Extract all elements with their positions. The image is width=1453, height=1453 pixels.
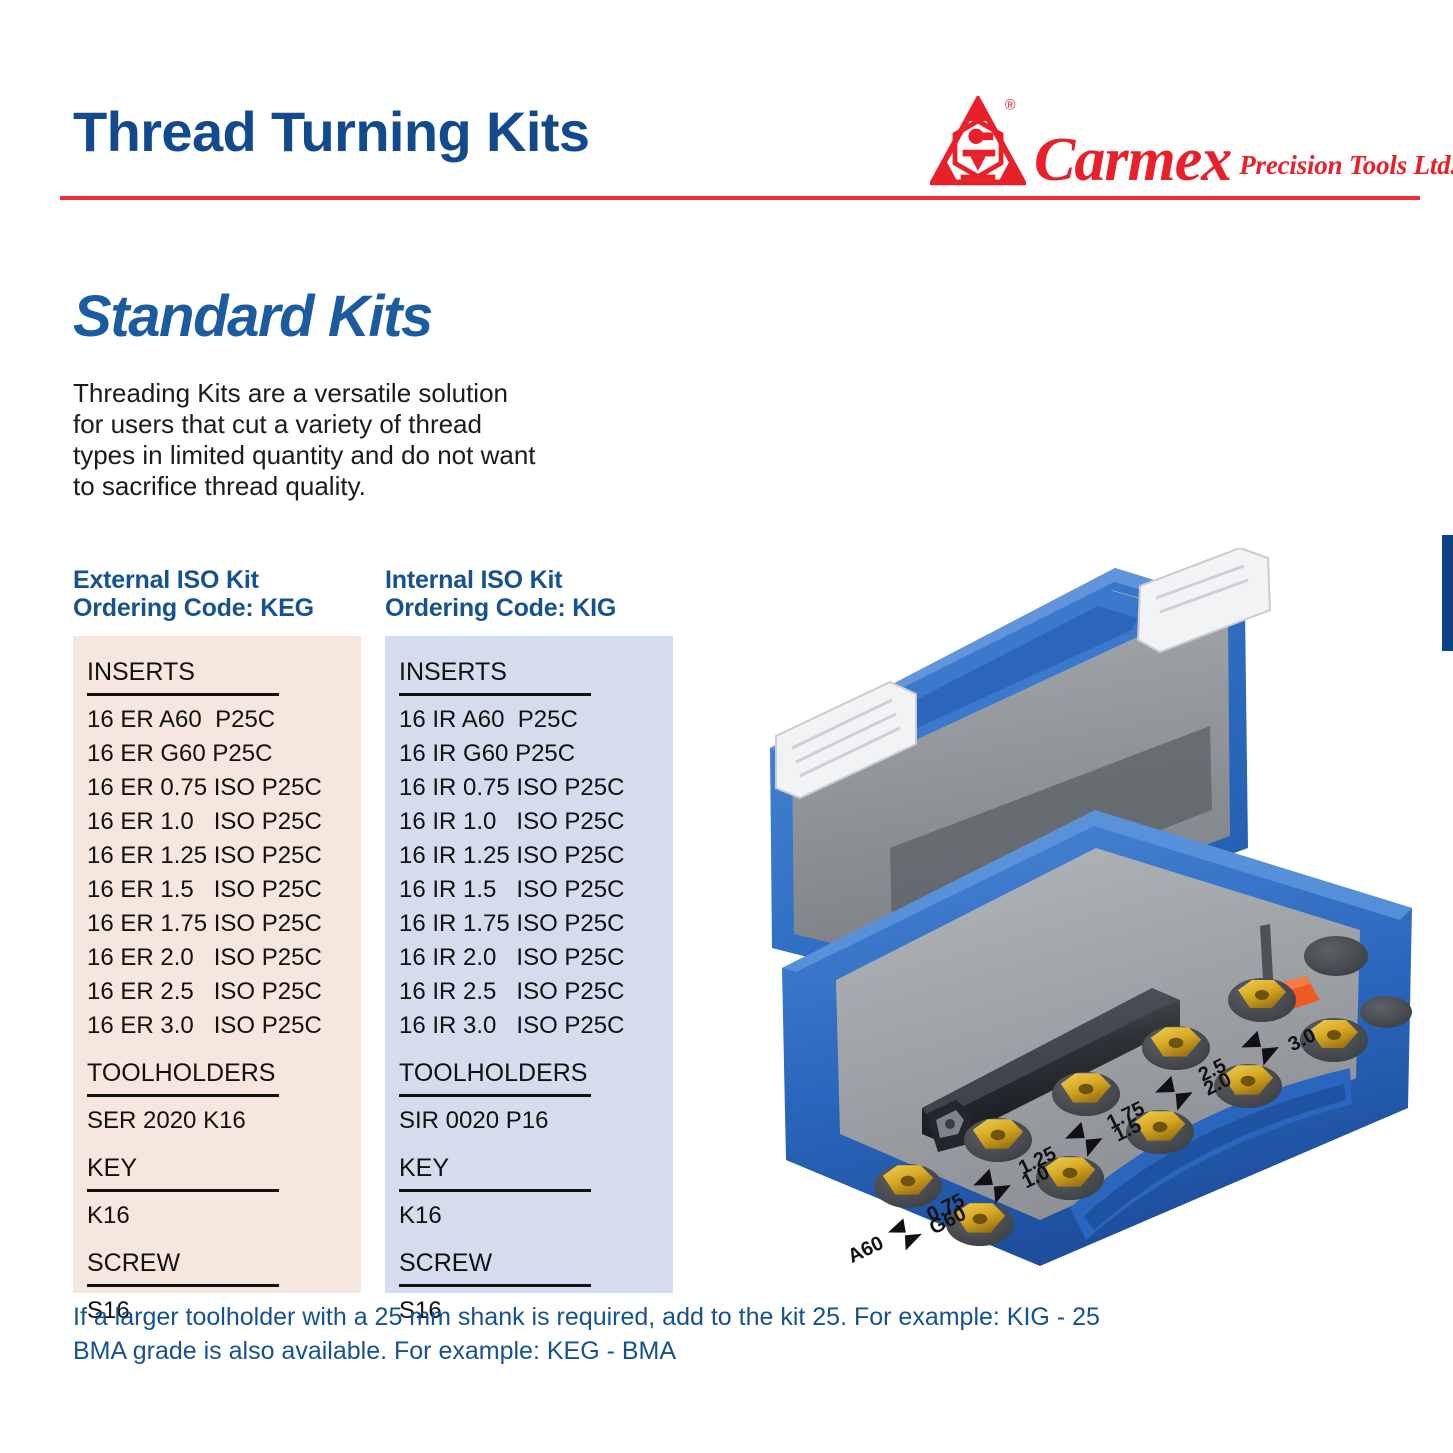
kit-column-internal: Internal ISO Kit Ordering Code: KIG INSE… (385, 566, 673, 1293)
kit-heading-line2: Ordering Code: KIG (385, 594, 673, 622)
group-divider (87, 1189, 279, 1192)
group-divider (87, 1094, 279, 1097)
footer-note: If a larger toolholder with a 25 mm shan… (73, 1300, 1100, 1368)
kit-panel-external: INSERTS16 ER A60 P25C16 ER G60 P25C16 ER… (73, 636, 361, 1293)
group-divider (87, 1284, 279, 1287)
brand-tagline: Precision Tools Ltd. (1239, 150, 1453, 190)
list-item: 16 ER 1.75 ISO P25C (87, 907, 347, 941)
group-spacer (87, 1043, 347, 1059)
group-title-screw: SCREW (399, 1249, 659, 1277)
group-divider (399, 1284, 591, 1287)
list-item: SIR 0020 P16 (399, 1104, 659, 1138)
list-item: 16 ER 1.0 ISO P25C (87, 805, 347, 839)
kit-heading-external: External ISO Kit Ordering Code: KEG (73, 566, 361, 622)
list-item: 16 ER G60 P25C (87, 737, 347, 771)
group-spacer (399, 1233, 659, 1249)
list-item: SER 2020 K16 (87, 1104, 347, 1138)
list-item: 16 ER 0.75 ISO P25C (87, 771, 347, 805)
list-item: K16 (399, 1199, 659, 1233)
list-item: 16 IR 2.0 ISO P25C (399, 941, 659, 975)
kit-panel-internal: INSERTS16 IR A60 P25C16 IR G60 P25C16 IR… (385, 636, 673, 1293)
group-divider (399, 1094, 591, 1097)
carmex-triangle-logo-icon: ® (930, 96, 1026, 190)
footer-note-line: BMA grade is also available. For example… (73, 1334, 1100, 1368)
list-item: 16 ER A60 P25C (87, 703, 347, 737)
kit-heading-line1: Internal ISO Kit (385, 566, 673, 594)
list-item: 16 IR 1.0 ISO P25C (399, 805, 659, 839)
list-item: 16 IR 3.0 ISO P25C (399, 1009, 659, 1043)
section-title: Standard Kits (73, 288, 432, 346)
kit-heading-internal: Internal ISO Kit Ordering Code: KIG (385, 566, 673, 622)
kit-case-illustration: A60 G60 0.75 1.0 1.25 1.5 1.75 2.0 2.5 (740, 548, 1430, 1278)
group-title-inserts: INSERTS (399, 658, 659, 686)
label-A60: A60 (844, 1232, 887, 1268)
group-title-toolholders: TOOLHOLDERS (87, 1059, 347, 1087)
list-item: 16 ER 3.0 ISO P25C (87, 1009, 347, 1043)
kit-heading-line2: Ordering Code: KEG (73, 594, 361, 622)
list-item: 16 ER 2.0 ISO P25C (87, 941, 347, 975)
list-item: 16 IR A60 P25C (399, 703, 659, 737)
group-spacer (87, 1138, 347, 1154)
list-item: 16 ER 1.5 ISO P25C (87, 873, 347, 907)
group-title-inserts: INSERTS (87, 658, 347, 686)
list-item: 16 IR G60 P25C (399, 737, 659, 771)
page-edge-tab (1442, 535, 1453, 651)
kit-column-external: External ISO Kit Ordering Code: KEG INSE… (73, 566, 361, 1293)
list-item: 16 ER 1.25 ISO P25C (87, 839, 347, 873)
list-item: 16 IR 1.5 ISO P25C (399, 873, 659, 907)
section-description-line: for users that cut a variety of thread (73, 409, 633, 440)
page-title: Thread Turning Kits (73, 104, 589, 160)
group-title-toolholders: TOOLHOLDERS (399, 1059, 659, 1087)
product-photo-kit-case: A60 G60 0.75 1.0 1.25 1.5 1.75 2.0 2.5 (740, 548, 1430, 1278)
list-item: 16 IR 2.5 ISO P25C (399, 975, 659, 1009)
list-item: K16 (87, 1199, 347, 1233)
footer-note-line: If a larger toolholder with a 25 mm shan… (73, 1300, 1100, 1334)
kit-heading-line1: External ISO Kit (73, 566, 361, 594)
list-item: 16 IR 1.25 ISO P25C (399, 839, 659, 873)
section-description-line: Threading Kits are a versatile solution (73, 378, 633, 409)
group-divider (399, 1189, 591, 1192)
brand-wordmark: Carmex (1034, 131, 1231, 190)
list-item: 16 ER 2.5 ISO P25C (87, 975, 347, 1009)
group-title-key: KEY (87, 1154, 347, 1182)
header-divider (60, 196, 1420, 200)
section-description-line: types in limited quantity and do not wan… (73, 440, 633, 471)
list-item: 16 IR 1.75 ISO P25C (399, 907, 659, 941)
list-item: 16 IR 0.75 ISO P25C (399, 771, 659, 805)
group-spacer (399, 1043, 659, 1059)
group-title-screw: SCREW (87, 1249, 347, 1277)
group-divider (399, 693, 591, 696)
section-description-line: to sacrifice thread quality. (73, 471, 633, 502)
group-spacer (87, 1233, 347, 1249)
group-divider (87, 693, 279, 696)
registered-mark: ® (1005, 97, 1016, 113)
section-description: Threading Kits are a versatile solutionf… (73, 378, 633, 502)
brand-logo: ® Carmex Precision Tools Ltd. (930, 96, 1453, 190)
group-title-key: KEY (399, 1154, 659, 1182)
group-spacer (399, 1138, 659, 1154)
